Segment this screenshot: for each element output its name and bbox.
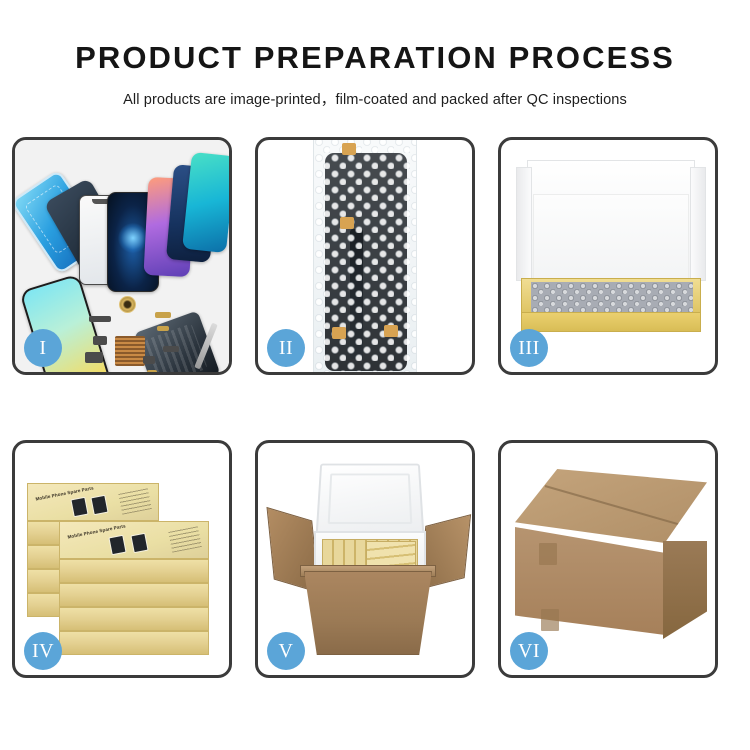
charging-port-icon	[163, 346, 179, 352]
carton-front-face-icon	[515, 527, 665, 635]
carton-seam-icon	[545, 485, 690, 528]
logic-board-icon	[115, 336, 145, 366]
carton-side-face-icon	[663, 541, 707, 639]
open-flat-box-icon	[515, 160, 707, 350]
page-subtitle: All products are image-printed，film-coat…	[0, 88, 750, 109]
step-badge-2: II	[267, 329, 305, 367]
carton-top-face-icon	[515, 469, 707, 543]
tape-lower-left-icon	[332, 327, 346, 339]
flex-cable-small-icon	[157, 326, 169, 331]
carton-tape-upper-icon	[539, 543, 557, 565]
bubble-bag-icon	[313, 140, 417, 372]
box-chip-rear-2	[90, 495, 108, 516]
speaker-icon	[93, 336, 107, 345]
battery-connector-icon	[89, 316, 111, 322]
sealed-carton-icon	[515, 469, 707, 653]
tape-lower-right-icon	[384, 325, 398, 337]
vibrator-icon	[85, 352, 103, 363]
flex-cable-gold-icon	[155, 312, 171, 318]
product-preparation-process-page: PRODUCT PREPARATION PROCESS All products…	[0, 0, 750, 750]
step-badge-1: I	[24, 329, 62, 367]
box-spec-lines-rear	[118, 487, 152, 514]
step-badge-4: IV	[24, 632, 62, 670]
bubble-texture-icon	[314, 140, 416, 372]
box-tray-front-icon	[521, 312, 701, 332]
step-badge-3: III	[510, 329, 548, 367]
step-panel-3: III	[498, 137, 718, 375]
box-chip-front-1	[108, 535, 126, 556]
step-panel-4: Mobile Phone Spare Parts Mobile Phone Sp…	[12, 440, 232, 678]
header: PRODUCT PREPARATION PROCESS All products…	[0, 0, 750, 109]
camera-module-icon	[119, 296, 136, 313]
step-badge-5: V	[267, 632, 305, 670]
foam-lid-icon	[316, 464, 425, 536]
open-carton-icon	[274, 459, 462, 659]
step-panel-5: V	[255, 440, 475, 678]
earpiece-icon	[143, 356, 155, 364]
step-badge-6: VI	[510, 632, 548, 670]
bubble-wrap-layer-icon	[531, 282, 693, 314]
foam-sheet-icon	[533, 194, 689, 282]
step-panel-2: II	[255, 137, 475, 375]
box-front-3	[59, 583, 209, 607]
box-rear-top: Mobile Phone Spare Parts	[27, 483, 159, 521]
tape-mid-icon	[340, 217, 354, 229]
box-chip-rear-1	[70, 497, 88, 518]
box-chip-front-2	[130, 533, 148, 554]
box-spec-lines-front	[168, 525, 202, 552]
box-front-top: Mobile Phone Spare Parts	[59, 521, 209, 559]
carton-tape-lower-icon	[541, 609, 559, 631]
box-front-2	[59, 559, 209, 583]
process-steps-grid: I II	[12, 137, 738, 685]
tape-top-icon	[342, 143, 356, 155]
page-title: PRODUCT PREPARATION PROCESS	[0, 42, 750, 75]
carton-body-icon	[304, 571, 432, 655]
box-front-4	[59, 607, 209, 631]
step-panel-1: I	[12, 137, 232, 375]
box-front-5	[59, 631, 209, 655]
antenna-icon	[147, 370, 157, 372]
step-panel-6: VI	[498, 440, 718, 678]
